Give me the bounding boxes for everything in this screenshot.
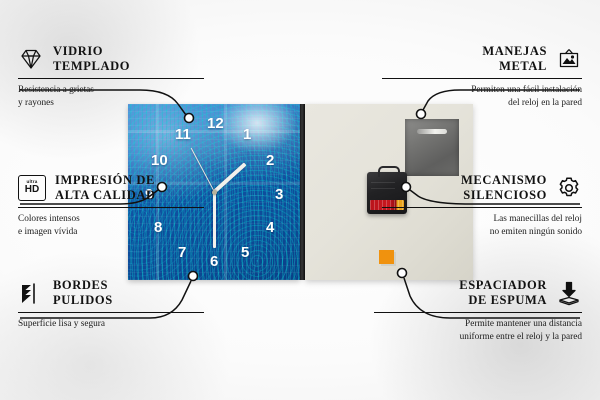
foam-spacer-pad bbox=[379, 250, 394, 264]
callout-desc-line2: no emiten ningún sonido bbox=[382, 226, 582, 239]
clock-number-3: 3 bbox=[275, 187, 283, 202]
callout-header: ESPACIADOR DE ESPUMA bbox=[374, 278, 582, 308]
callout-title: MANEJAS METAL bbox=[482, 44, 547, 74]
callout-title: IMPRESIÓN DE ALTA CALIDAD bbox=[55, 173, 156, 203]
clock-number-11: 11 bbox=[175, 127, 191, 142]
callout-desc-line2: y rayones bbox=[18, 97, 204, 110]
callout-header: MECANISMO SILENCIOSO bbox=[382, 173, 582, 203]
callout-title-line2: SILENCIOSO bbox=[461, 188, 547, 203]
clock-number-7: 7 bbox=[178, 245, 186, 260]
callout-title-line2: ALTA CALIDAD bbox=[55, 188, 156, 203]
callout-title-line1: ESPACIADOR bbox=[459, 278, 547, 293]
highlight-glow bbox=[217, 104, 296, 153]
callout-bordes-pulidos[interactable]: BORDES PULIDOS Superficie lisa y segura bbox=[18, 278, 204, 331]
callout-description: Permite mantener una distancia uniforme … bbox=[374, 318, 582, 343]
callout-desc-line2: e imagen vívida bbox=[18, 226, 204, 239]
callout-description: Las manecillas del reloj no emiten ningú… bbox=[382, 213, 582, 238]
clock-number-4: 4 bbox=[266, 220, 274, 235]
callout-desc-line1: Permiten una fácil instalación bbox=[382, 84, 582, 97]
clock-number-5: 5 bbox=[241, 245, 249, 260]
clock-number-10: 10 bbox=[151, 153, 168, 168]
picture-hanger-icon bbox=[556, 46, 582, 72]
clock-hour-hand bbox=[213, 162, 247, 193]
gear-icon bbox=[556, 175, 582, 201]
hanger-slot bbox=[417, 129, 447, 134]
callout-title-line2: DE ESPUMA bbox=[459, 293, 547, 308]
callout-title: ESPACIADOR DE ESPUMA bbox=[459, 278, 547, 308]
callout-divider bbox=[382, 207, 582, 209]
clock-number-1: 1 bbox=[243, 127, 251, 142]
callout-divider bbox=[18, 312, 204, 314]
callout-title-line2: TEMPLADO bbox=[53, 59, 130, 74]
infographic-canvas: 12 1 2 3 4 5 6 7 8 9 10 11 bbox=[0, 0, 600, 400]
callout-desc-line1: Resistencia a grietas bbox=[18, 84, 204, 97]
callout-title-line1: VIDRIO bbox=[53, 44, 130, 59]
callout-title-line1: MECANISMO bbox=[461, 173, 547, 188]
callout-title: BORDES PULIDOS bbox=[53, 278, 113, 308]
callout-desc-line2: uniforme entre el reloj y la pared bbox=[374, 331, 582, 344]
callout-header: BORDES PULIDOS bbox=[18, 278, 204, 308]
callout-manejas-metal[interactable]: MANEJAS METAL Permiten una fácil instala… bbox=[382, 44, 582, 109]
callout-title-line2: METAL bbox=[482, 59, 547, 74]
callout-desc-line1: Colores intensos bbox=[18, 213, 204, 226]
callout-impresion-alta-calidad[interactable]: ultra HD IMPRESIÓN DE ALTA CALIDAD Color… bbox=[18, 173, 204, 238]
clock-number-12: 12 bbox=[207, 116, 224, 131]
callout-espaciador-espuma[interactable]: ESPACIADOR DE ESPUMA Permite mantener un… bbox=[374, 278, 582, 343]
callout-header: ultra HD IMPRESIÓN DE ALTA CALIDAD bbox=[18, 173, 204, 203]
callout-desc-line1: Las manecillas del reloj bbox=[382, 213, 582, 226]
callout-title: MECANISMO SILENCIOSO bbox=[461, 173, 547, 203]
clock-number-2: 2 bbox=[266, 153, 274, 168]
callout-divider bbox=[18, 78, 204, 80]
callout-description: Resistencia a grietas y rayones bbox=[18, 84, 204, 109]
callout-divider bbox=[374, 312, 582, 314]
callout-title-line2: PULIDOS bbox=[53, 293, 113, 308]
callout-desc-line1: Superficie lisa y segura bbox=[18, 318, 204, 331]
callout-vidrio-templado[interactable]: VIDRIO TEMPLADO Resistencia a grietas y … bbox=[18, 44, 204, 109]
clock-center-pivot bbox=[212, 190, 217, 195]
callout-desc-line2: del reloj en la pared bbox=[382, 97, 582, 110]
polished-edges-icon bbox=[18, 280, 44, 306]
callout-description: Colores intensos e imagen vívida bbox=[18, 213, 204, 238]
callout-header: VIDRIO TEMPLADO bbox=[18, 44, 204, 74]
ultra-hd-icon-large-text: HD bbox=[25, 185, 39, 195]
callout-divider bbox=[382, 78, 582, 80]
callout-title-line1: MANEJAS bbox=[482, 44, 547, 59]
callout-divider bbox=[18, 207, 204, 209]
diamond-icon bbox=[18, 46, 44, 72]
metal-hanger-plate bbox=[405, 119, 459, 176]
callout-description: Permiten una fácil instalación del reloj… bbox=[382, 84, 582, 109]
callout-title: VIDRIO TEMPLADO bbox=[53, 44, 130, 74]
clock-number-6: 6 bbox=[210, 254, 218, 269]
clock-minute-hand bbox=[213, 192, 216, 248]
foam-spacer-icon bbox=[556, 280, 582, 306]
ultra-hd-icon: ultra HD bbox=[18, 175, 46, 201]
callout-description: Superficie lisa y segura bbox=[18, 318, 204, 331]
callout-title-line1: BORDES bbox=[53, 278, 113, 293]
callout-header: MANEJAS METAL bbox=[382, 44, 582, 74]
callout-title-line1: IMPRESIÓN DE bbox=[55, 173, 156, 188]
callout-desc-line1: Permite mantener una distancia bbox=[374, 318, 582, 331]
callout-mecanismo-silencioso[interactable]: MECANISMO SILENCIOSO Las manecillas del … bbox=[382, 173, 582, 238]
